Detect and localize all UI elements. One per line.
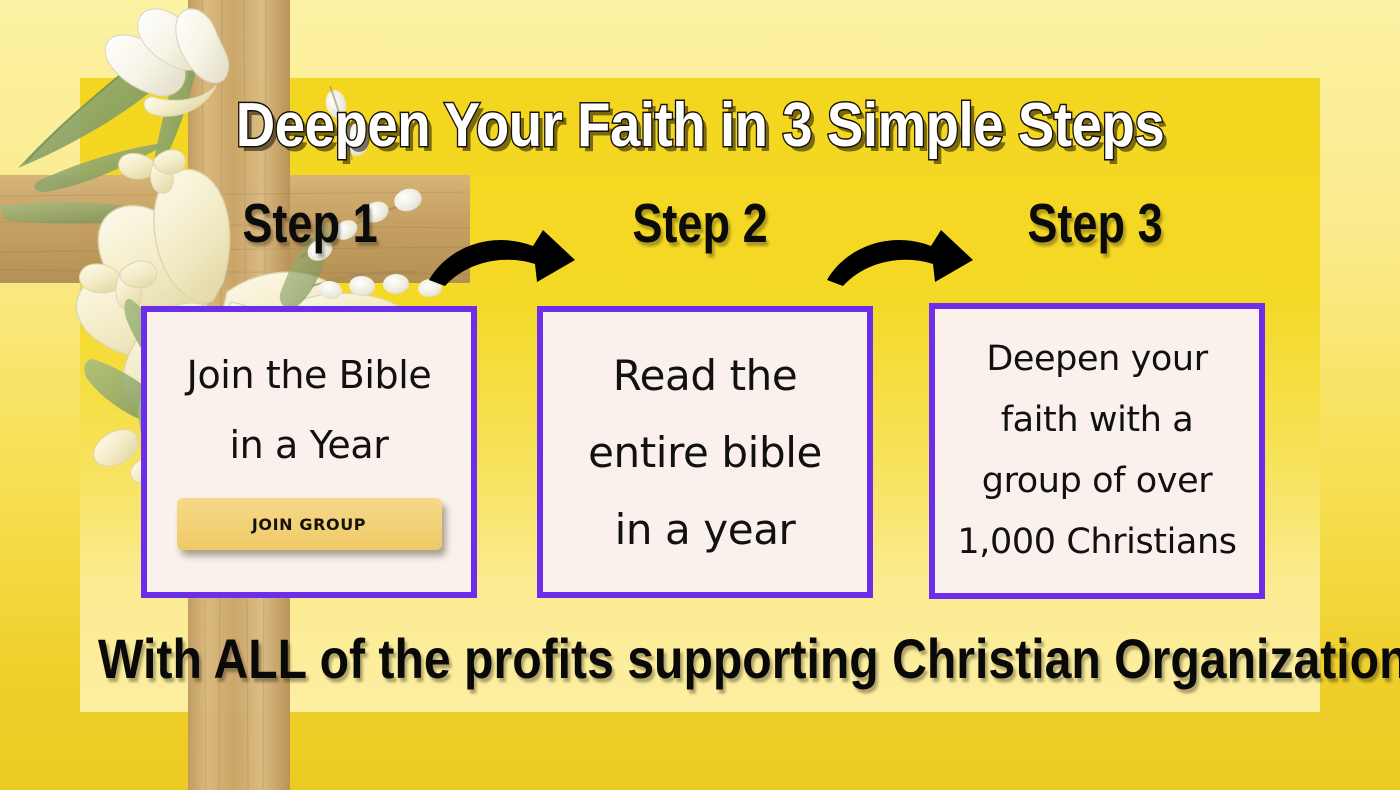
step-card-2: Read the entire bible in a year [537,306,873,598]
step-card-2-text: Read the entire bible in a year [588,337,822,568]
step-card-3-text: Deepen your faith with a group of over 1… [957,329,1236,573]
arrow-step1-to-step2-icon [425,224,605,296]
step-label-3: Step 3 [972,190,1218,256]
step-card-3: Deepen your faith with a group of over 1… [929,303,1265,599]
page-title: Deepen Your Faith in 3 Simple Steps [84,93,1316,159]
footer-tagline: With ALL of the profits supporting Chris… [98,625,1302,693]
step-label-1: Step 1 [187,190,433,256]
arrow-step2-to-step3-icon [823,224,1003,296]
step-card-1: Join the Bible in a Year JOIN GROUP [141,306,477,598]
step-label-2: Step 2 [577,190,823,256]
poster-canvas: Deepen Your Faith in 3 Simple Steps Step… [0,0,1400,790]
step-card-1-text: Join the Bible in a Year [187,340,432,480]
join-group-button[interactable]: JOIN GROUP [177,498,442,550]
